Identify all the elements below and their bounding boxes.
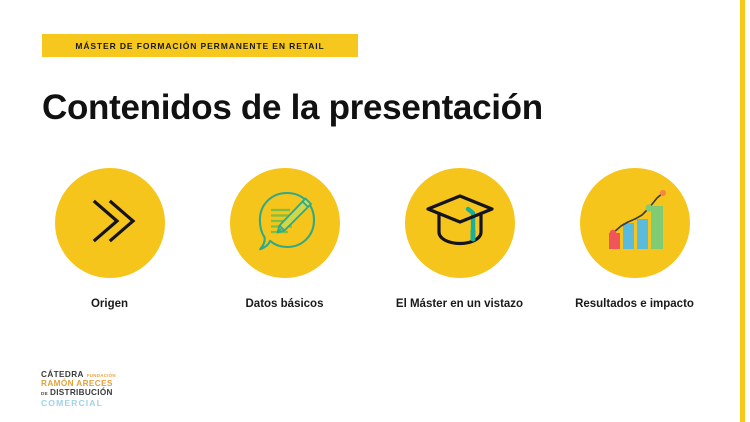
icon-circle-el-master xyxy=(405,168,515,278)
graduation-cap-icon xyxy=(424,191,496,256)
page-title: Contenidos de la presentación xyxy=(42,88,543,128)
logo-line-distribucion: DISTRIBUCIÓN xyxy=(50,389,113,397)
content-item-label: Origen xyxy=(45,296,175,313)
right-edge-accent-stripe xyxy=(740,0,745,422)
content-item-resultados-e-impacto[interactable]: Resultados e impacto xyxy=(547,168,722,313)
growth-bar-chart-icon xyxy=(601,188,669,259)
speech-bubble-pencil-icon xyxy=(250,186,320,261)
icon-circle-resultados xyxy=(580,168,690,278)
eyebrow-badge: MÁSTER DE FORMACIÓN PERMANENTE EN RETAIL xyxy=(42,34,358,57)
content-item-el-master-en-un-vistazo[interactable]: El Máster en un vistazo xyxy=(372,168,547,313)
presentation-slide: MÁSTER DE FORMACIÓN PERMANENTE EN RETAIL… xyxy=(0,0,750,422)
content-item-origen[interactable]: Origen xyxy=(22,168,197,313)
content-item-datos-basicos[interactable]: Datos básicos xyxy=(197,168,372,313)
content-item-label: El Máster en un vistazo xyxy=(395,296,525,313)
icon-circle-datos-basicos xyxy=(230,168,340,278)
icon-circle-origen xyxy=(55,168,165,278)
catedra-ramon-areces-logo: CÁTEDRA FUNDACIÓN RAMÓN ARECES DE DISTRI… xyxy=(41,371,123,407)
eyebrow-badge-label: MÁSTER DE FORMACIÓN PERMANENTE EN RETAIL xyxy=(75,41,324,51)
content-item-label: Resultados e impacto xyxy=(570,296,700,313)
double-chevron-right-icon xyxy=(77,188,143,259)
logo-line-de: DE xyxy=(41,392,48,397)
logo-line-catedra: CÁTEDRA xyxy=(41,371,84,379)
logo-line-comercial: COMERCIAL xyxy=(41,399,103,408)
contents-items-row: Origen xyxy=(22,168,722,313)
content-item-label: Datos básicos xyxy=(220,296,350,313)
logo-line-fundacion: FUNDACIÓN xyxy=(87,374,116,378)
